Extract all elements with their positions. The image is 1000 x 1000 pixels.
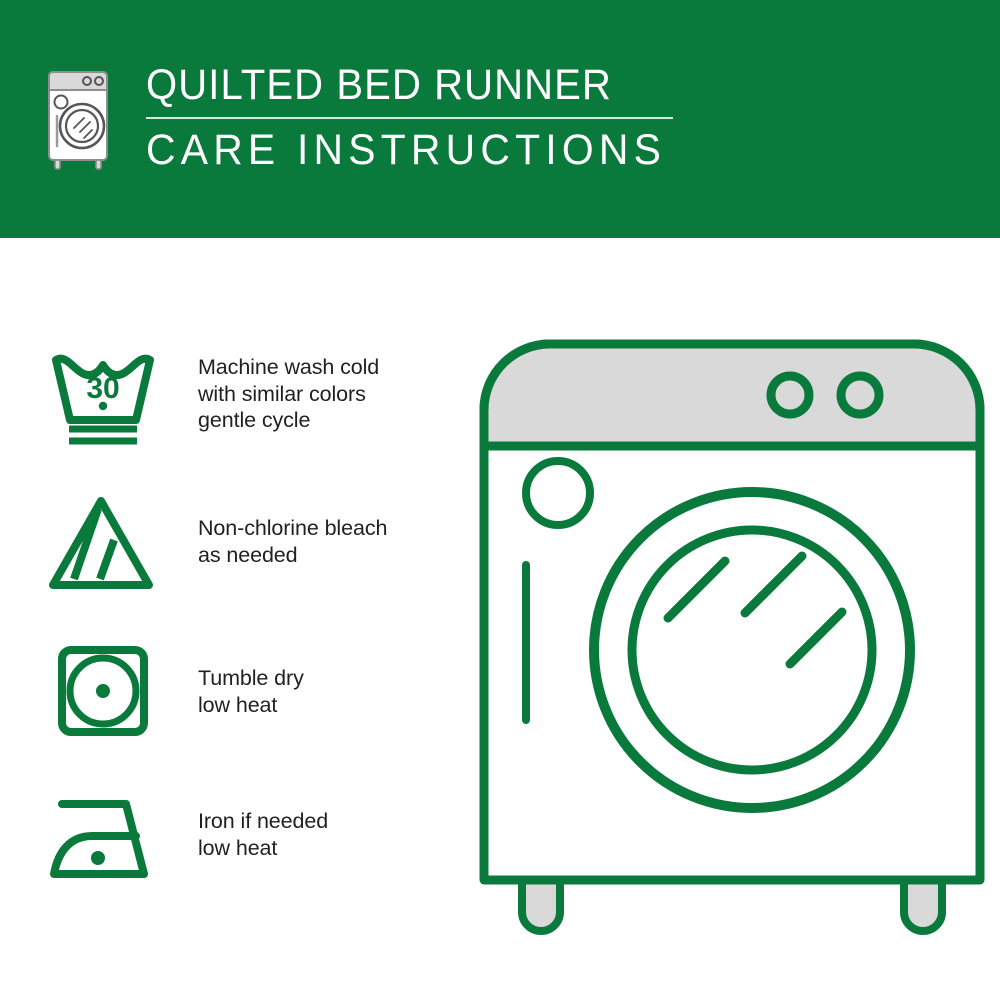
care-row-tumble-dry: Tumble dry low heat — [48, 643, 458, 747]
care-label-tumble-dry: Tumble dry low heat — [198, 643, 304, 718]
care-row-machine-wash: 30 Machine wash cold with similar colors… — [48, 348, 458, 452]
page-subtitle: CARE INSTRUCTIONS — [146, 127, 666, 173]
care-label-bleach: Non-chlorine bleach as needed — [198, 493, 387, 568]
front-load-washing-machine-illustration — [470, 300, 1000, 960]
title-divider — [146, 117, 673, 119]
washing-machine-graphic — [470, 300, 1000, 960]
care-label-iron: Iron if needed low heat — [198, 790, 328, 861]
header-content: QUILTED BED RUNNER CARE INSTRUCTIONS — [44, 62, 693, 173]
tumble-dry-low-heat-icon — [48, 643, 158, 747]
bleach-triangle-non-chlorine-icon — [48, 493, 158, 597]
iron-low-heat-icon — [48, 790, 158, 894]
page-title: QUILTED BED RUNNER — [146, 62, 655, 108]
care-row-bleach: Non-chlorine bleach as needed — [48, 493, 458, 597]
wash-temperature-value: 30 — [86, 372, 119, 405]
care-instructions-infographic: QUILTED BED RUNNER CARE INSTRUCTIONS 30 … — [0, 0, 1000, 1000]
header-titles: QUILTED BED RUNNER CARE INSTRUCTIONS — [146, 62, 693, 173]
wash-tub-30-gentle-icon: 30 — [48, 348, 158, 452]
care-label-machine-wash: Machine wash cold with similar colors ge… — [198, 348, 379, 434]
header-banner: QUILTED BED RUNNER CARE INSTRUCTIONS — [0, 0, 1000, 238]
care-row-iron: Iron if needed low heat — [48, 790, 458, 894]
care-symbol-list: 30 Machine wash cold with similar colors… — [0, 238, 470, 1000]
control-panel — [484, 344, 980, 446]
washing-machine-icon — [44, 66, 118, 170]
